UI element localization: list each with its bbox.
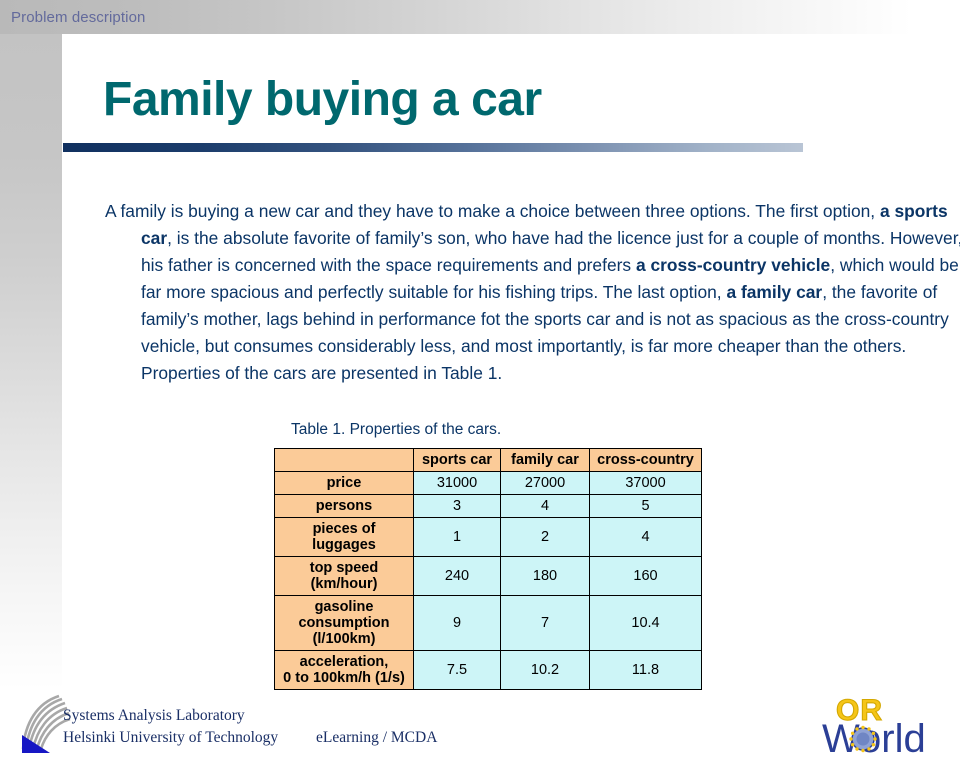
or-world-logo: OR World (814, 692, 954, 758)
table-header-row: sports carfamily carcross-country (275, 449, 702, 472)
table-cell: 9 (414, 596, 501, 651)
table-cell: 10.2 (501, 651, 590, 690)
body-emphasis: a cross-country vehicle (636, 255, 830, 275)
table-corner-cell (275, 449, 414, 472)
table-cell: 5 (590, 495, 702, 518)
car-properties-table: sports carfamily carcross-countryprice31… (274, 448, 702, 690)
table-row: gasolineconsumption(l/100km)9710.4 (275, 596, 702, 651)
table-row: pieces ofluggages124 (275, 518, 702, 557)
body-emphasis: a family car (726, 282, 822, 302)
table-cell: 160 (590, 557, 702, 596)
body-run: A family is buying a new car and they ha… (105, 201, 880, 221)
table-column-header: cross-country (590, 449, 702, 472)
table-cell: 31000 (414, 472, 501, 495)
table-cell: 2 (501, 518, 590, 557)
table-row: persons345 (275, 495, 702, 518)
footer-course-label: eLearning / MCDA (316, 729, 437, 747)
table-cell: 1 (414, 518, 501, 557)
table-cell: 7 (501, 596, 590, 651)
table-cell: 27000 (501, 472, 590, 495)
table-column-header: sports car (414, 449, 501, 472)
table-cell: 4 (501, 495, 590, 518)
table-column-header: family car (501, 449, 590, 472)
table-cell: 240 (414, 557, 501, 596)
footer-org-line1: Systems Analysis Laboratory (63, 707, 245, 724)
header-label: Problem description (11, 9, 145, 26)
table-cell: 11.8 (590, 651, 702, 690)
footer-organization: Systems Analysis Laboratory Helsinki Uni… (63, 705, 278, 749)
table-row: top speed(km/hour)240180160 (275, 557, 702, 596)
table-row: acceleration,0 to 100km/h (1/s)7.510.211… (275, 651, 702, 690)
table-cell: 7.5 (414, 651, 501, 690)
title-underline-rule (63, 143, 803, 152)
footer-org-line2: Helsinki University of Technology (63, 727, 278, 749)
page-title: Family buying a car (103, 72, 542, 127)
table-cell: 3 (414, 495, 501, 518)
problem-description-paragraph: A family is buying a new car and they ha… (105, 198, 960, 387)
table-caption: Table 1. Properties of the cars. (291, 421, 501, 439)
table-row-header: price (275, 472, 414, 495)
table-row-header: acceleration,0 to 100km/h (1/s) (275, 651, 414, 690)
table-cell: 37000 (590, 472, 702, 495)
table-row-header: pieces ofluggages (275, 518, 414, 557)
table-cell: 4 (590, 518, 702, 557)
table-row: price310002700037000 (275, 472, 702, 495)
table-row-header: gasolineconsumption(l/100km) (275, 596, 414, 651)
left-accent-strip (0, 34, 62, 690)
slide: Problem description Family buying a car … (0, 0, 960, 768)
table-cell: 10.4 (590, 596, 702, 651)
table-row-header: persons (275, 495, 414, 518)
table-row-header: top speed(km/hour) (275, 557, 414, 596)
table-cell: 180 (501, 557, 590, 596)
